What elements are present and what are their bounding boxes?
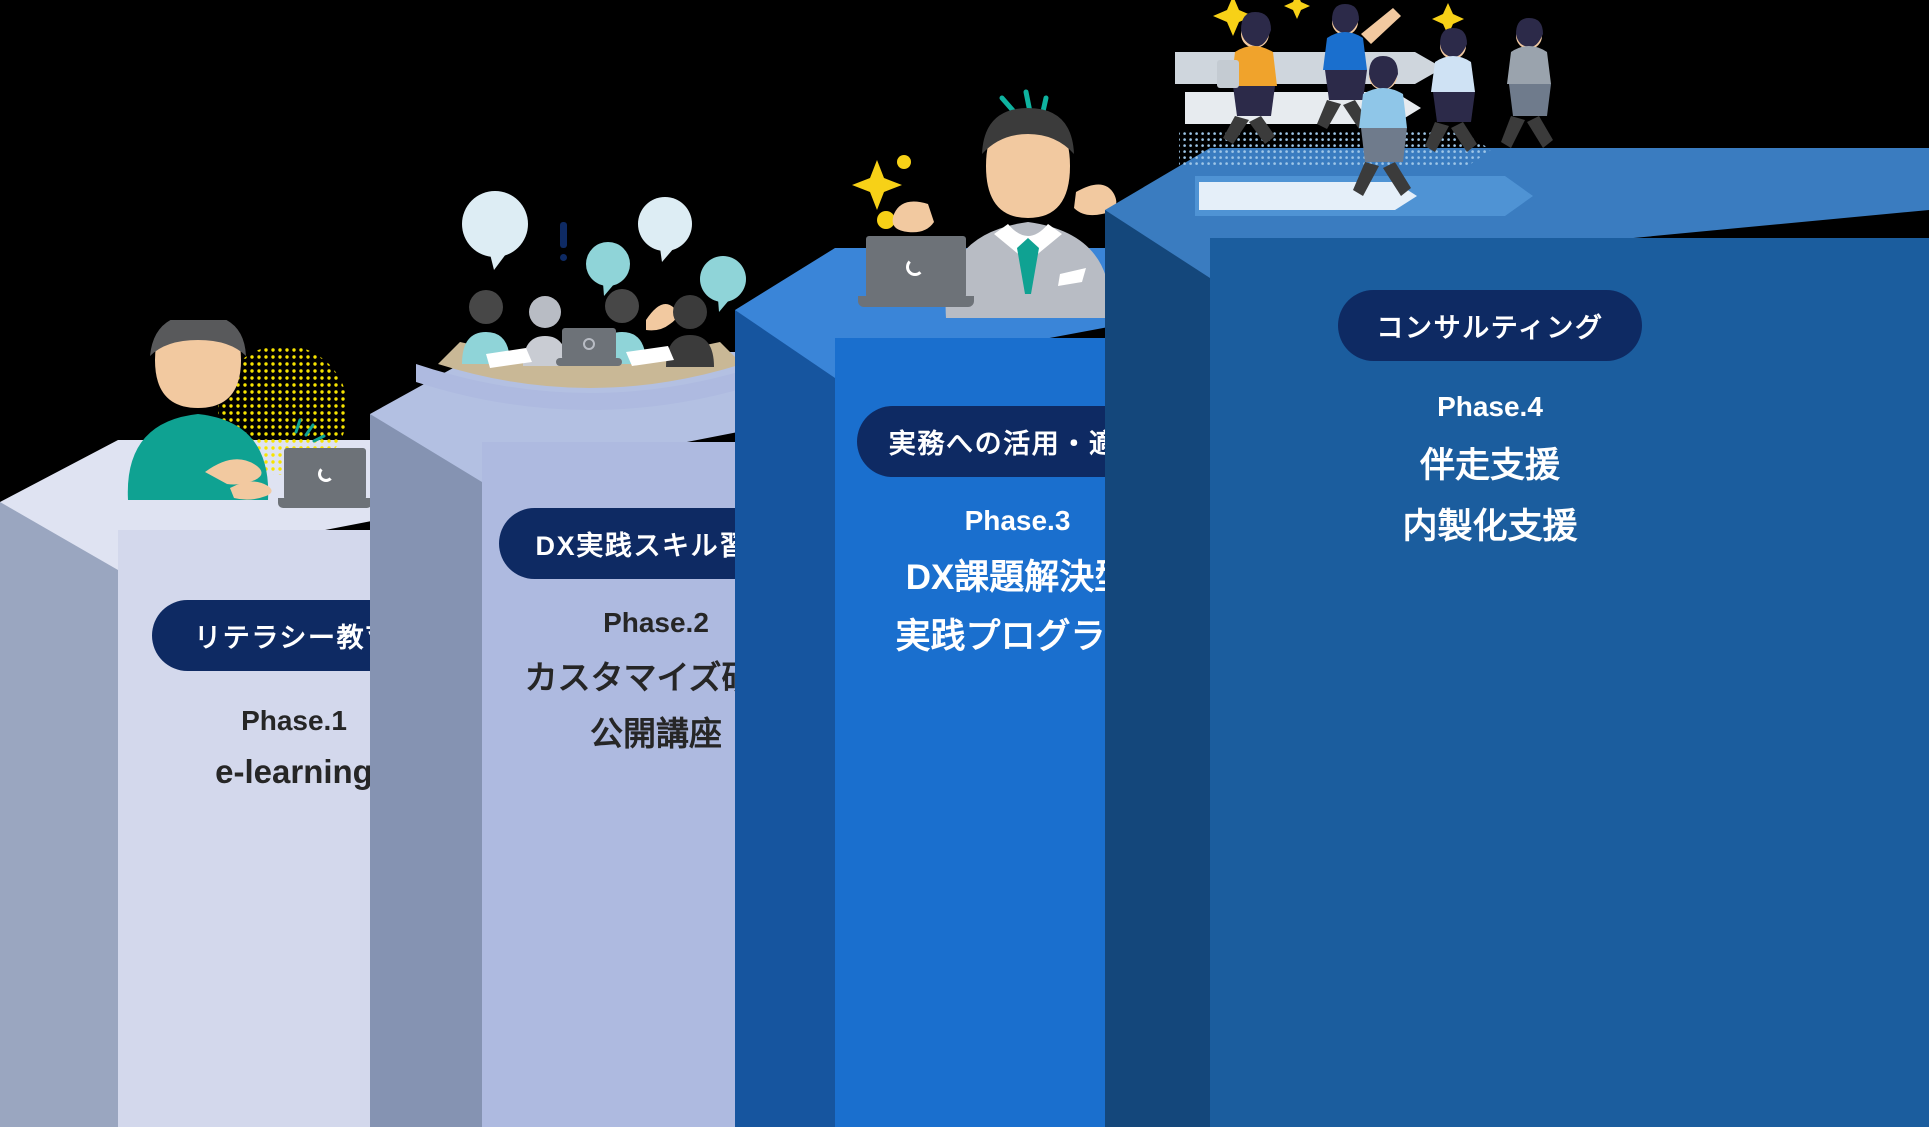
step-4-text: コンサルティング Phase.4 伴走支援 内製化支援: [1210, 268, 1770, 549]
step-phase-4: コンサルティング Phase.4 伴走支援 内製化支援: [1105, 148, 1929, 1127]
step-4-line-1: 伴走支援: [1210, 437, 1770, 488]
step-4-phase: Phase.4: [1210, 391, 1770, 423]
illustration-person-at-laptop: [110, 320, 380, 550]
laptop-icon: [858, 236, 974, 308]
step-2-side: [370, 414, 482, 1127]
illustration-team-running-forward-arrows: [1165, 0, 1565, 260]
step-1-side: [0, 502, 118, 1127]
step-3-side: [735, 310, 835, 1127]
step-4-line-2: 内製化支援: [1210, 498, 1770, 549]
laptop-icon: [278, 448, 372, 510]
illustration-group-meeting-table: [390, 182, 790, 422]
step-4-badge: コンサルティング: [1338, 290, 1641, 361]
step-4-side: [1105, 210, 1210, 1127]
roadmap-diagram: リテラシー教育 Phase.1 e-learning: [0, 0, 1929, 1127]
